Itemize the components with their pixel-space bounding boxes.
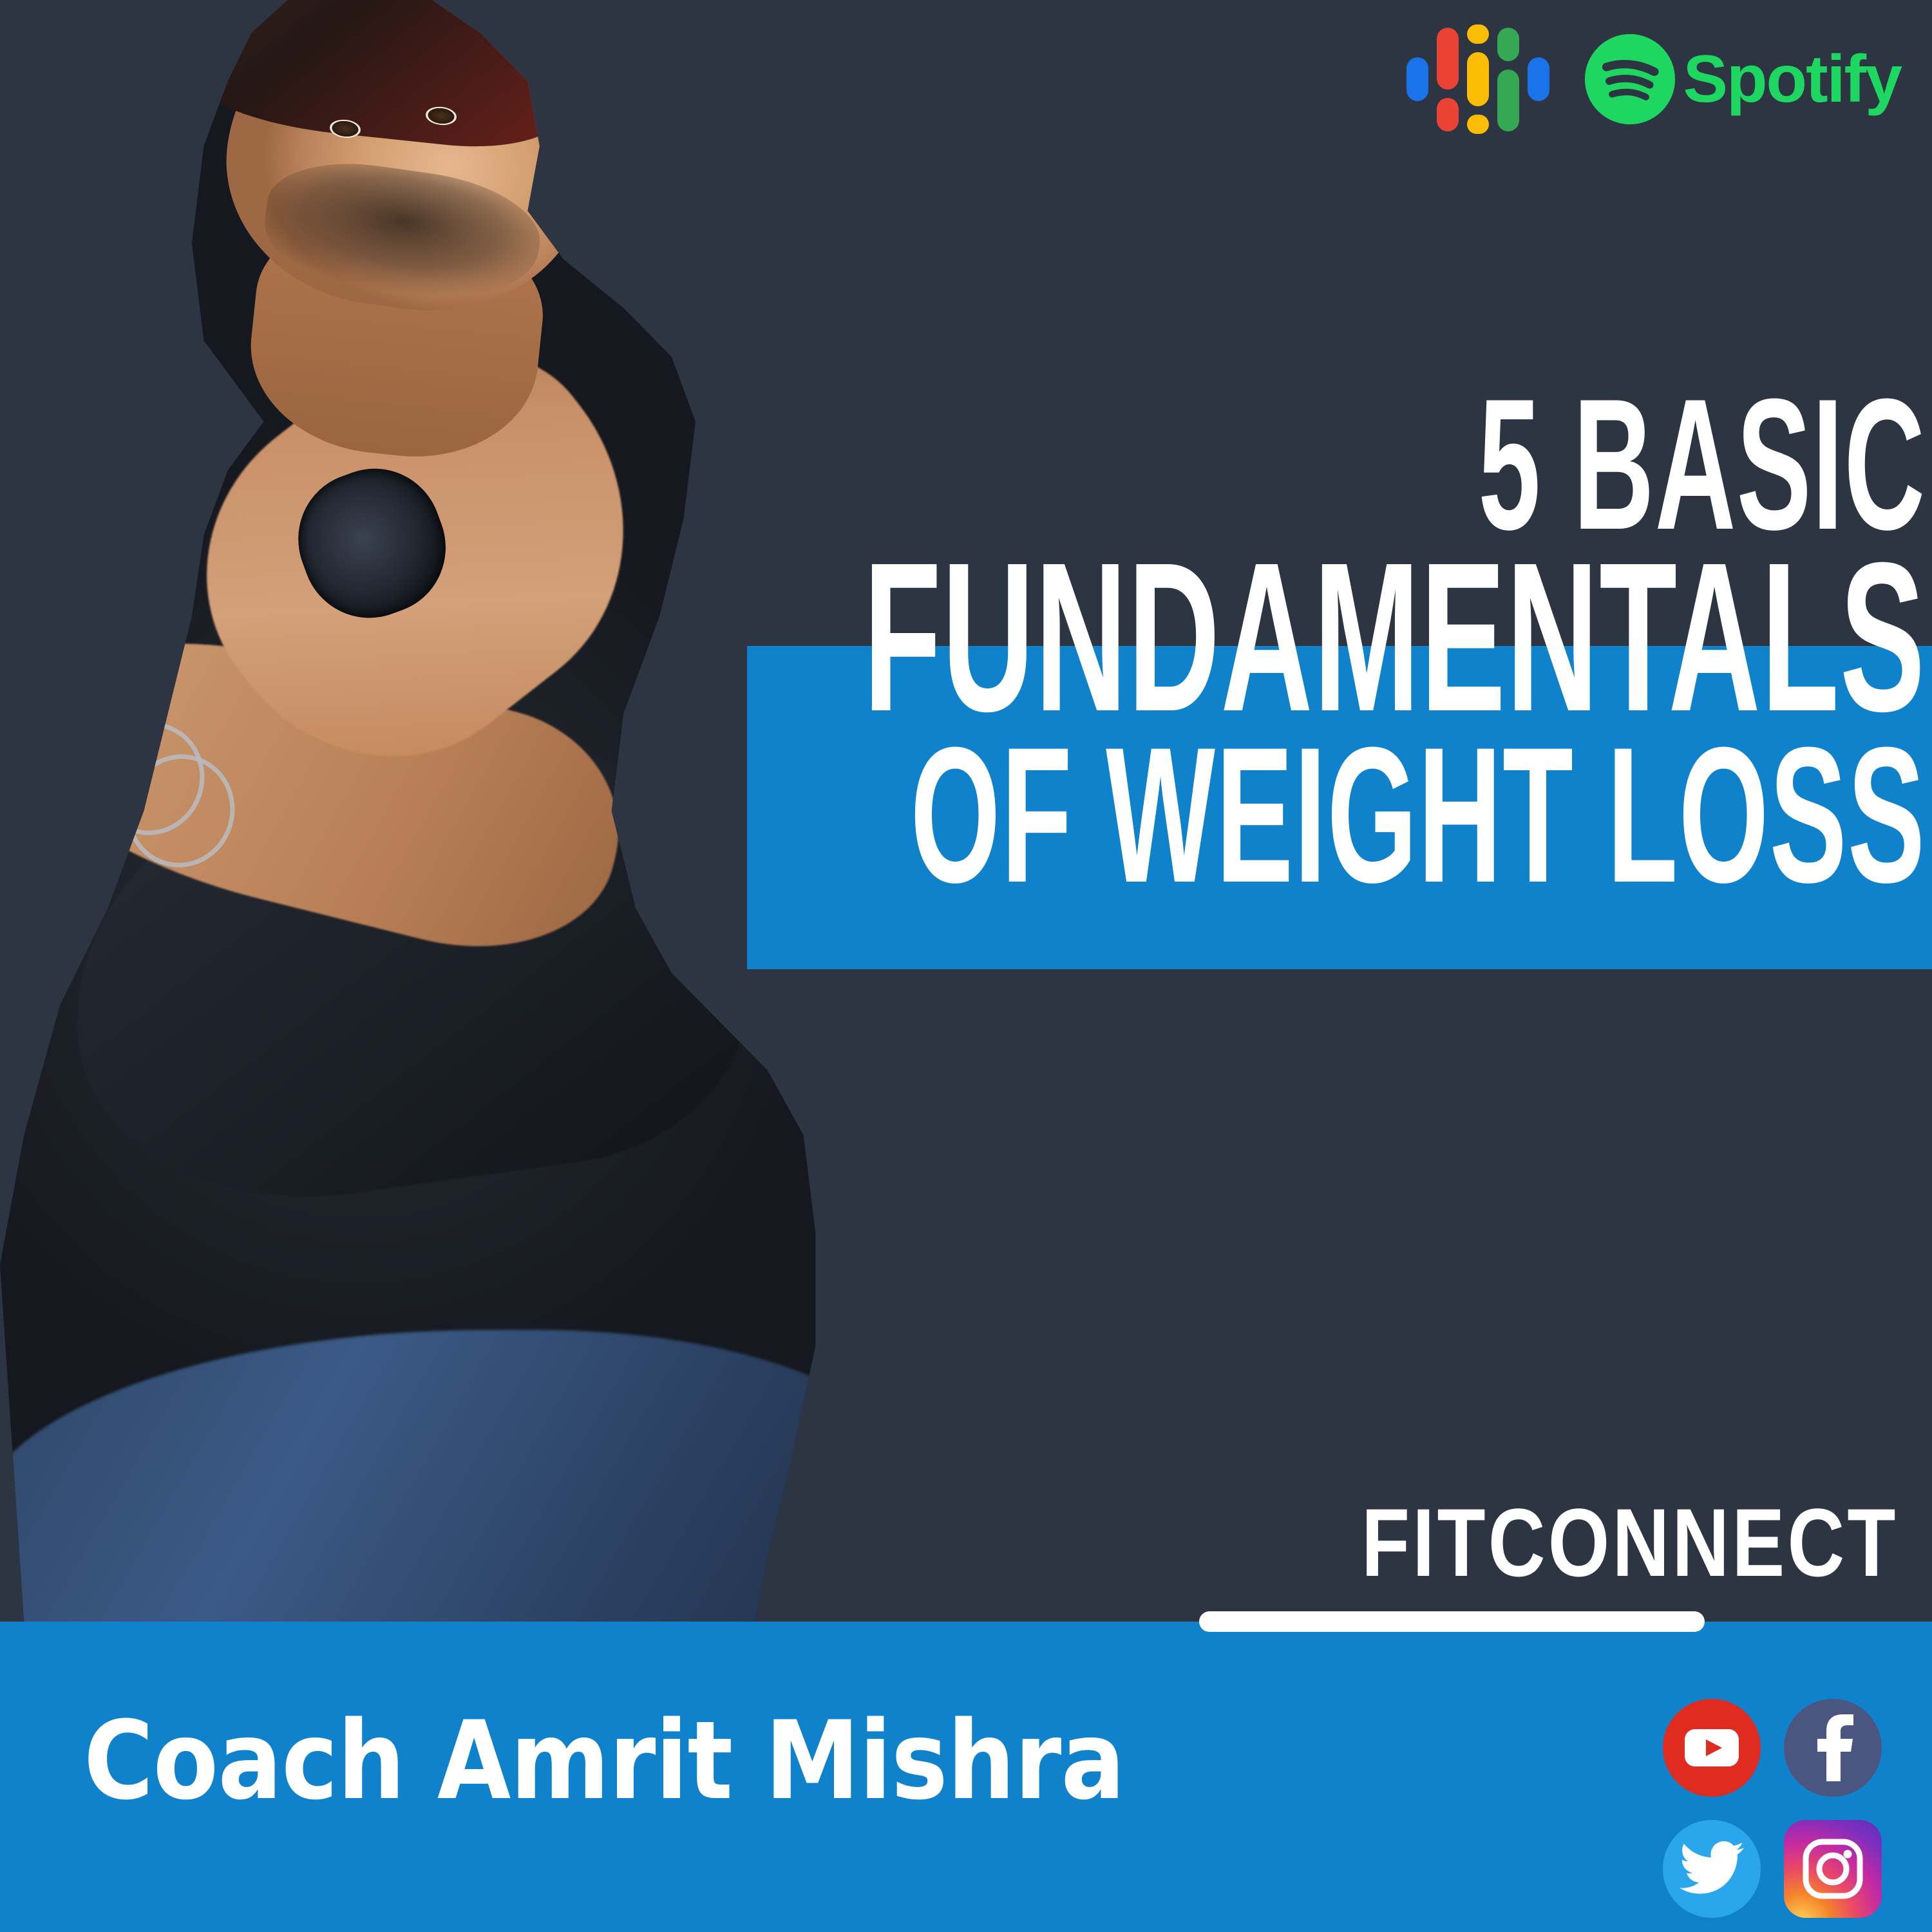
gp-bar-yellow-c	[1467, 115, 1489, 134]
google-podcasts-icon[interactable]	[1406, 24, 1549, 134]
gp-bar-blue-a	[1406, 57, 1428, 101]
podcast-cover-art: Spotify 5 BASIC FUNDAMENTALS OF WEIGHT L…	[0, 0, 1932, 1932]
gp-column-3	[1467, 24, 1489, 134]
gp-bar-red-a	[1437, 28, 1459, 90]
spotify-icon	[1583, 32, 1677, 126]
coach-photo-silhouette	[0, 0, 1199, 1622]
instagram-glyph	[1801, 1837, 1865, 1901]
youtube-glyph	[1682, 1727, 1741, 1769]
youtube-icon[interactable]	[1663, 1699, 1761, 1797]
gp-bar-green-a	[1497, 28, 1519, 61]
instagram-icon[interactable]	[1784, 1820, 1882, 1918]
coach-photo	[0, 0, 1199, 1622]
gp-bar-yellow-a	[1467, 24, 1489, 44]
gp-bar-red-b	[1437, 98, 1459, 131]
twitter-icon[interactable]	[1663, 1820, 1761, 1918]
brand-name: FITCONNECT	[1361, 1494, 1899, 1591]
gp-bar-green-b	[1497, 70, 1519, 131]
gp-column-5	[1528, 24, 1549, 134]
gp-bar-blue-b	[1528, 57, 1549, 101]
platform-badges: Spotify	[1406, 24, 1901, 134]
gp-bar-yellow-b	[1467, 52, 1489, 106]
gp-column-4	[1497, 24, 1519, 134]
gp-column-2	[1437, 24, 1459, 134]
social-links	[1663, 1699, 1882, 1918]
coach-name: Coach Amrit Mishra	[84, 1707, 1124, 1815]
spotify-wordmark: Spotify	[1683, 46, 1901, 113]
twitter-glyph	[1680, 1841, 1744, 1897]
gp-column-1	[1406, 24, 1428, 134]
facebook-glyph	[1810, 1714, 1856, 1781]
spotify-badge[interactable]: Spotify	[1583, 32, 1901, 126]
facebook-icon[interactable]	[1784, 1699, 1882, 1797]
brand-underline-rule	[1199, 1611, 1705, 1632]
